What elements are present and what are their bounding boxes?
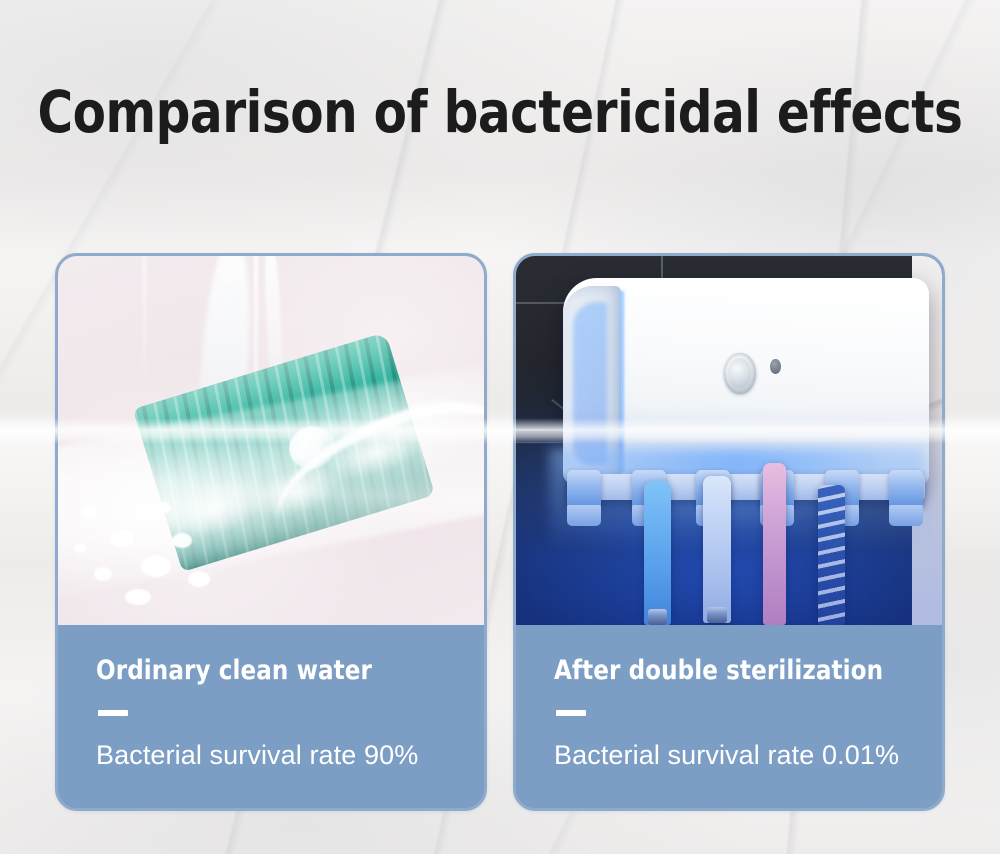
- wall-seam-decor-2: [143, 256, 146, 396]
- card-caption-sterilized: After double sterilization Bacterial sur…: [516, 625, 942, 811]
- uv-glow-seam: [620, 291, 624, 473]
- toothbrush-pink: [763, 463, 786, 625]
- caption-subtext: Bacterial survival rate 90%: [96, 740, 484, 770]
- caption-title: Ordinary clean water: [96, 657, 465, 685]
- comparison-card-ordinary-water: Ordinary clean water Bacterial survival …: [55, 253, 487, 811]
- uv-sterilizer-toothbrush-holder-photo: [516, 256, 942, 625]
- toothbrush-dark-striped: [818, 485, 844, 625]
- toothbrush-hooks: [567, 470, 925, 529]
- caption-subtext: Bacterial survival rate 0.01%: [554, 740, 942, 770]
- water-droplets: [67, 459, 263, 614]
- card-caption-ordinary: Ordinary clean water Bacterial survival …: [58, 625, 484, 811]
- toothbrush-white: [703, 476, 730, 624]
- motion-sensor-dome: [724, 353, 756, 394]
- status-led-indicator: [770, 359, 781, 374]
- caption-divider-dash: [556, 710, 586, 716]
- page-title: Comparison of bactericidal effects: [35, 82, 965, 142]
- caption-title: After double sterilization: [554, 657, 923, 685]
- toothbrush-water-rinse-photo: [58, 256, 484, 625]
- caption-divider-dash: [98, 710, 128, 716]
- toothbrush-blue: [644, 481, 671, 625]
- comparison-card-sterilized: After double sterilization Bacterial sur…: [513, 253, 945, 811]
- product-comparison-page: Comparison of bactericidal effects: [0, 0, 1000, 854]
- toothbrush-ferrule: [648, 609, 668, 625]
- toothbrush-ferrule: [707, 607, 727, 623]
